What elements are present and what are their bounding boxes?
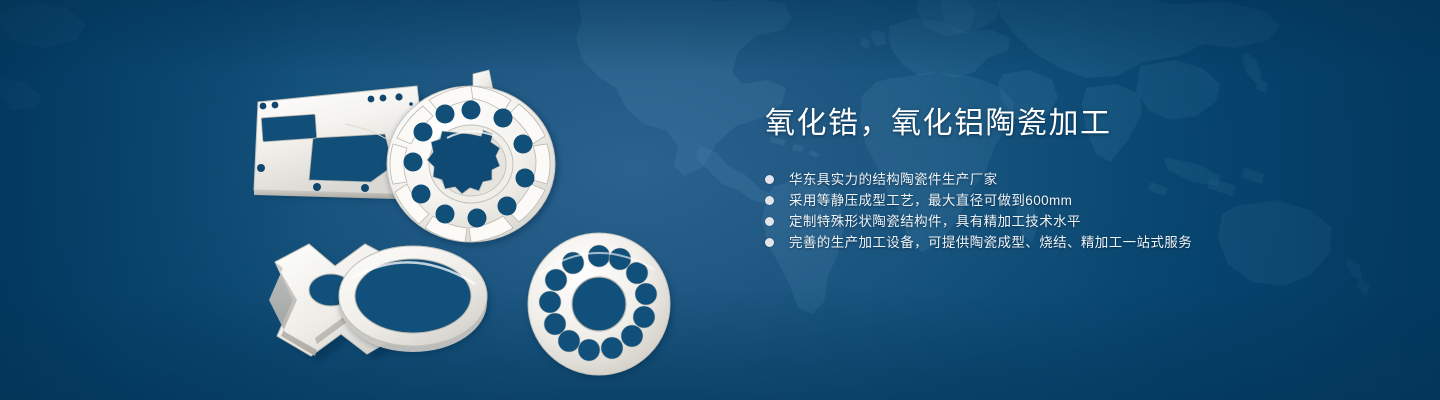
feature-list: 华东具实力的结构陶瓷件生产厂家 采用等静压成型工艺，最大直径可做到600mm 定… [765, 169, 1385, 253]
bullet-dot-icon [765, 217, 774, 226]
ceramic-perforated-disc-group [528, 233, 673, 378]
feature-text: 完善的生产加工设备，可提供陶瓷成型、烧结、精加工一站式服务 [789, 232, 1192, 253]
banner-copy-block: 氧化锆，氧化铝陶瓷加工 华东具实力的结构陶瓷件生产厂家 采用等静压成型工艺，最大… [765, 104, 1385, 253]
bullet-dot-icon [765, 196, 774, 205]
list-item: 采用等静压成型工艺，最大直径可做到600mm [765, 190, 1385, 211]
ceramic-products-image [225, 40, 705, 385]
bullet-dot-icon [765, 175, 774, 184]
ceramic-ring-group [339, 246, 491, 354]
list-item: 完善的生产加工设备，可提供陶瓷成型、烧结、精加工一站式服务 [765, 232, 1385, 253]
promo-banner: 氧化锆，氧化铝陶瓷加工 华东具实力的结构陶瓷件生产厂家 采用等静压成型工艺，最大… [0, 0, 1440, 400]
bullet-dot-icon [765, 238, 774, 247]
feature-text: 定制特殊形状陶瓷结构件，具有精加工技术水平 [789, 211, 1081, 232]
list-item: 华东具实力的结构陶瓷件生产厂家 [765, 169, 1385, 190]
feature-text: 华东具实力的结构陶瓷件生产厂家 [789, 169, 998, 190]
page-title: 氧化锆，氧化铝陶瓷加工 [765, 104, 1385, 144]
feature-text: 采用等静压成型工艺，最大直径可做到600mm [789, 190, 1072, 211]
list-item: 定制特殊形状陶瓷结构件，具有精加工技术水平 [765, 211, 1385, 232]
